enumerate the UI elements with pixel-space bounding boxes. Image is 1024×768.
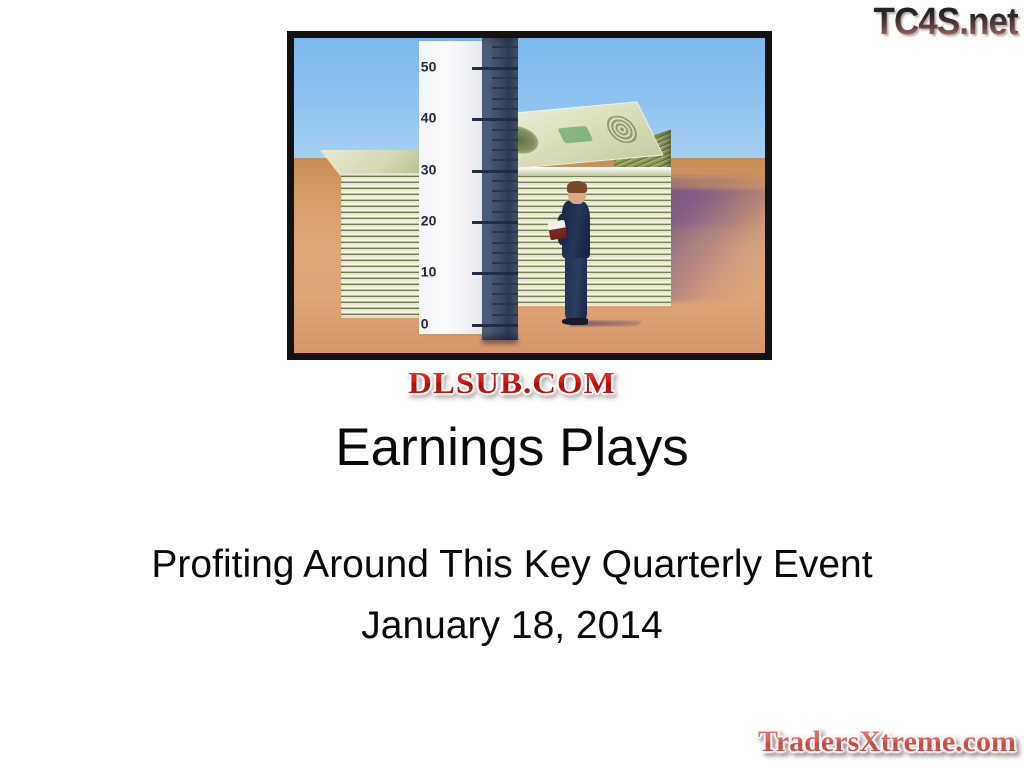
slide-subtitle: Profiting Around This Key Quarterly Even…	[0, 541, 1024, 589]
ruler-tick-label: 0	[421, 315, 429, 331]
ruler-minor-tick	[492, 231, 518, 233]
ruler-tick-label: 50	[421, 59, 437, 75]
ruler-minor-tick	[492, 87, 518, 89]
ruler-minor-tick	[492, 293, 518, 295]
slide-title: Earnings Plays	[0, 418, 1024, 478]
ruler-tick-label: 20	[421, 213, 437, 229]
ruler-minor-tick	[492, 200, 518, 202]
ruler-tick-label: 30	[421, 161, 437, 177]
ruler-minor-tick	[492, 262, 518, 264]
ruler-major-tick	[472, 221, 517, 224]
top-bill-edge	[492, 167, 671, 175]
ruler-minor-tick	[492, 57, 518, 59]
businessman-legs	[565, 255, 587, 319]
ruler-minor-tick	[492, 149, 518, 151]
slide-date: January 18, 2014	[0, 602, 1024, 650]
ruler-minor-tick	[492, 139, 518, 141]
tc4s-watermark: TC4S.net	[874, 2, 1018, 42]
ruler-major-tick	[472, 324, 517, 327]
ruler-major-tick	[472, 118, 517, 121]
ruler-minor-tick	[492, 77, 518, 79]
ruler-tick-marks: 50403020100	[419, 41, 518, 334]
ruler-minor-tick	[492, 283, 518, 285]
illustration-frame: 50403020100	[287, 31, 772, 360]
ruler-major-tick	[472, 67, 517, 70]
ruler-minor-tick	[492, 129, 518, 131]
businessman-notebook	[547, 220, 567, 241]
ruler-major-tick	[472, 170, 517, 173]
bill-seal-icon	[600, 115, 644, 145]
ruler-tick-label: 40	[421, 110, 437, 126]
ruler-minor-tick	[492, 98, 518, 100]
ruler-major-tick	[472, 272, 517, 275]
ruler-minor-tick	[492, 314, 518, 316]
ruler-minor-tick	[492, 108, 518, 110]
ruler-minor-tick	[492, 303, 518, 305]
ruler-minor-tick	[492, 252, 518, 254]
ruler-minor-tick	[492, 190, 518, 192]
money-ruler-illustration: 50403020100	[294, 38, 765, 353]
businessman-figure	[555, 183, 597, 325]
dlsub-watermark-label: DLSUB.COM	[408, 366, 616, 400]
businessman-hair	[567, 181, 587, 192]
ruler-minor-tick	[492, 46, 518, 48]
dlsub-watermark: DLSUB.COM	[0, 366, 1024, 400]
ruler-tick-label: 10	[421, 264, 437, 280]
ruler-minor-tick	[492, 159, 518, 161]
ruler-minor-tick	[492, 211, 518, 213]
businessman-shoe	[562, 318, 588, 325]
ruler-minor-tick	[492, 242, 518, 244]
ruler-minor-tick	[492, 180, 518, 182]
tradersxtreme-watermark: TradersXtreme.com	[758, 725, 1016, 759]
